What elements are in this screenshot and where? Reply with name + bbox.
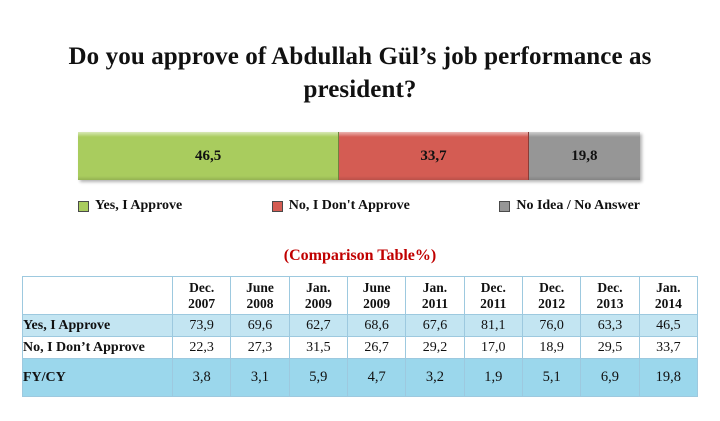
table-header-col-0: Dec. 2007 — [173, 277, 231, 315]
table-cell-fycy-8: 19,8 — [639, 359, 697, 397]
table-header-col-6-line1: Dec. — [523, 280, 580, 295]
table-header-col-7-line1: Dec. — [581, 280, 638, 295]
table-header-col-2-line1: Jan. — [290, 280, 347, 295]
table-cell-no-2: 31,5 — [289, 337, 347, 359]
table-cell-fycy-7: 6,9 — [581, 359, 639, 397]
legend-label-approve: Yes, I Approve — [95, 198, 182, 214]
table-header-col-2-line2: 2009 — [290, 296, 347, 311]
table-header-col-3: June 2009 — [347, 277, 405, 315]
legend-item-disapprove: No, I Don't Approve — [272, 198, 410, 214]
table-header-col-5: Dec. 2011 — [464, 277, 522, 315]
table-header-col-3-line1: June — [348, 280, 405, 295]
table-cell-yes-6: 76,0 — [522, 315, 580, 337]
table-header-col-1: June 2008 — [231, 277, 289, 315]
table-header-col-6: Dec. 2012 — [522, 277, 580, 315]
table-row: Yes, I Approve 73,9 69,6 62,7 68,6 67,6 … — [23, 315, 698, 337]
table-cell-no-7: 29,5 — [581, 337, 639, 359]
table-header-col-8: Jan. 2014 — [639, 277, 697, 315]
table-cell-no-1: 27,3 — [231, 337, 289, 359]
table-cell-yes-1: 69,6 — [231, 315, 289, 337]
table-cell-no-6: 18,9 — [522, 337, 580, 359]
bar-segment-disapprove-value: 33,7 — [420, 148, 446, 165]
table-cell-yes-4: 67,6 — [406, 315, 464, 337]
legend-swatch-approve-icon — [78, 201, 89, 212]
table-header-col-2: Jan. 2009 — [289, 277, 347, 315]
chart-legend: Yes, I Approve No, I Don't Approve No Id… — [78, 198, 640, 214]
table-header-col-7-line2: 2013 — [581, 296, 638, 311]
legend-swatch-no-idea-icon — [499, 201, 510, 212]
table-row-label-fycy: FY/CY — [23, 359, 173, 397]
table-cell-fycy-6: 5,1 — [522, 359, 580, 397]
table-cell-fycy-4: 3,2 — [406, 359, 464, 397]
table-cell-yes-3: 68,6 — [347, 315, 405, 337]
stacked-bar-chart: 46,5 33,7 19,8 — [78, 132, 640, 180]
legend-label-disapprove: No, I Don't Approve — [289, 198, 410, 214]
comparison-table-wrapper: Dec. 2007 June 2008 Jan. 2009 June 2009 … — [22, 276, 698, 397]
table-cell-fycy-3: 4,7 — [347, 359, 405, 397]
table-header-col-1-line1: June — [231, 280, 288, 295]
bar-segment-no-idea-value: 19,8 — [571, 148, 597, 165]
table-cell-no-5: 17,0 — [464, 337, 522, 359]
table-cell-yes-5: 81,1 — [464, 315, 522, 337]
bar-segment-approve-value: 46,5 — [195, 148, 221, 165]
table-cell-fycy-5: 1,9 — [464, 359, 522, 397]
table-cell-no-0: 22,3 — [173, 337, 231, 359]
table-cell-yes-0: 73,9 — [173, 315, 231, 337]
table-header-row: Dec. 2007 June 2008 Jan. 2009 June 2009 … — [23, 277, 698, 315]
comparison-table-body: Dec. 2007 June 2008 Jan. 2009 June 2009 … — [23, 277, 698, 397]
table-cell-yes-7: 63,3 — [581, 315, 639, 337]
table-header-col-1-line2: 2008 — [231, 296, 288, 311]
table-header-col-3-line2: 2009 — [348, 296, 405, 311]
table-cell-no-4: 29,2 — [406, 337, 464, 359]
table-header-col-7: Dec. 2013 — [581, 277, 639, 315]
legend-label-no-idea: No Idea / No Answer — [516, 198, 640, 214]
table-header-col-4: Jan. 2011 — [406, 277, 464, 315]
legend-item-approve: Yes, I Approve — [78, 198, 182, 214]
table-cell-fycy-2: 5,9 — [289, 359, 347, 397]
table-cell-yes-2: 62,7 — [289, 315, 347, 337]
table-cell-fycy-1: 3,1 — [231, 359, 289, 397]
bar-segment-approve: 46,5 — [78, 132, 339, 180]
table-header-col-4-line1: Jan. — [406, 280, 463, 295]
comparison-table-caption: (Comparison Table%) — [0, 247, 720, 265]
bar-segment-disapprove: 33,7 — [339, 132, 528, 180]
table-header-col-0-line2: 2007 — [173, 296, 230, 311]
table-header-col-0-line1: Dec. — [173, 280, 230, 295]
table-row-label-no: No, I Don’t Approve — [23, 337, 173, 359]
table-header-col-8-line2: 2014 — [640, 296, 697, 311]
bar-segment-no-idea: 19,8 — [529, 132, 640, 180]
table-header-col-6-line2: 2012 — [523, 296, 580, 311]
legend-item-no-idea: No Idea / No Answer — [499, 198, 640, 214]
table-header-col-8-line1: Jan. — [640, 280, 697, 295]
table-cell-fycy-0: 3,8 — [173, 359, 231, 397]
table-cell-yes-8: 46,5 — [639, 315, 697, 337]
table-cell-no-8: 33,7 — [639, 337, 697, 359]
comparison-table: Dec. 2007 June 2008 Jan. 2009 June 2009 … — [22, 276, 698, 397]
table-header-col-5-line1: Dec. — [465, 280, 522, 295]
table-header-col-4-line2: 2011 — [406, 296, 463, 311]
table-corner-cell — [23, 277, 173, 315]
table-row: FY/CY 3,8 3,1 5,9 4,7 3,2 1,9 5,1 6,9 19… — [23, 359, 698, 397]
table-header-col-5-line2: 2011 — [465, 296, 522, 311]
table-row: No, I Don’t Approve 22,3 27,3 31,5 26,7 … — [23, 337, 698, 359]
table-row-label-yes: Yes, I Approve — [23, 315, 173, 337]
legend-swatch-disapprove-icon — [272, 201, 283, 212]
table-cell-no-3: 26,7 — [347, 337, 405, 359]
page-title: Do you approve of Abdullah Gül’s job per… — [38, 40, 682, 106]
